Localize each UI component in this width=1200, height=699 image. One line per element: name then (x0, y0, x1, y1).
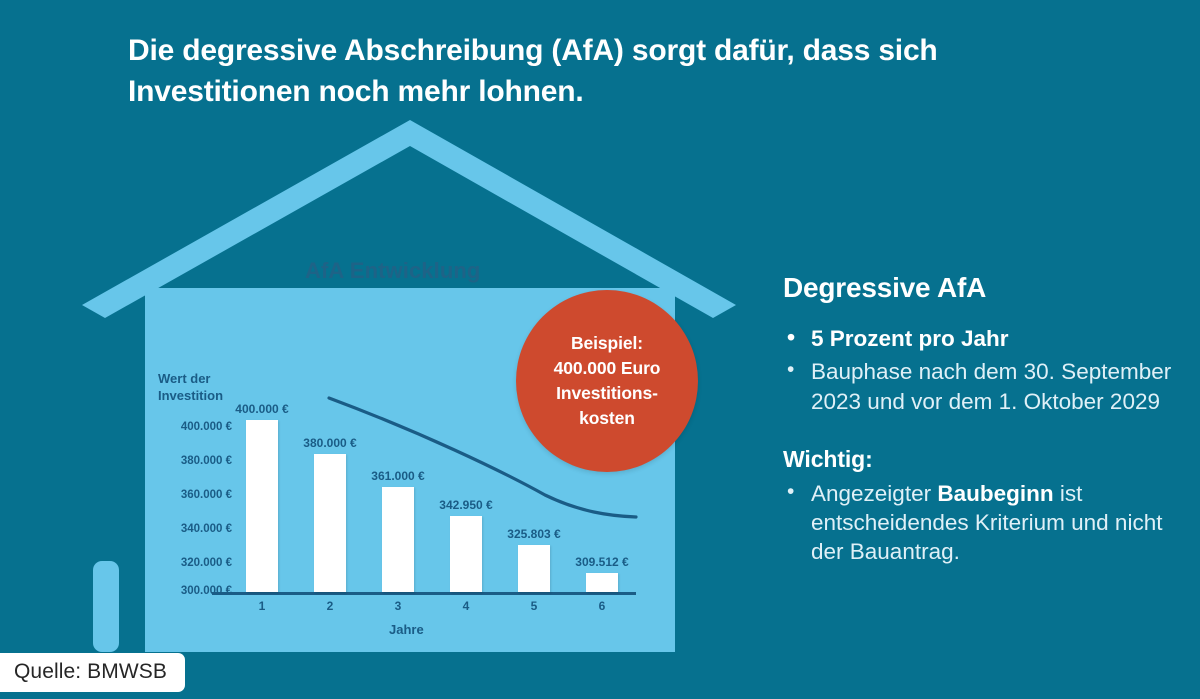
source-label: Quelle: BMWSB (0, 653, 185, 692)
list-item: Bauphase nach dem 30. September 2023 und… (783, 357, 1173, 416)
panel-heading: Degressive AfA (783, 272, 1173, 304)
callout-line-2: 400.000 Euro (554, 358, 661, 378)
chart-baseline (212, 592, 636, 595)
bar-value-label: 325.803 € (474, 527, 594, 541)
x-tick-label: 3 (383, 599, 413, 613)
x-axis-label: Jahre (0, 622, 1200, 637)
example-callout-badge: Beispiel: 400.000 Euro Investitions- kos… (516, 290, 698, 472)
bar-value-label: 342.950 € (406, 498, 526, 512)
x-tick-label: 5 (519, 599, 549, 613)
list-item: 5 Prozent pro Jahr (783, 324, 1173, 353)
bar-value-label: 361.000 € (338, 469, 458, 483)
callout-line-3: Investitions- (556, 383, 658, 403)
example-callout-text: Beispiel: 400.000 Euro Investitions- kos… (554, 331, 661, 430)
x-tick-label: 1 (247, 599, 277, 613)
list-item: Angezeigter Baubeginn ist entscheidendes… (783, 479, 1173, 567)
callout-line-4: kosten (579, 408, 635, 428)
x-tick-label: 2 (315, 599, 345, 613)
panel-bullet-list: 5 Prozent pro Jahr Bauphase nach dem 30.… (783, 324, 1173, 416)
infographic-canvas: Die degressive Abschreibung (AfA) sorgt … (0, 0, 1200, 699)
callout-line-1: Beispiel: (571, 333, 643, 353)
x-tick-label: 6 (587, 599, 617, 613)
bar-value-label: 380.000 € (270, 436, 390, 450)
important-bullet-list: Angezeigter Baubeginn ist entscheidendes… (783, 479, 1173, 567)
x-tick-label: 4 (451, 599, 481, 613)
important-heading: Wichtig: (783, 446, 1173, 473)
info-panel: Degressive AfA 5 Prozent pro Jahr Baupha… (783, 272, 1173, 571)
bar-value-label: 400.000 € (202, 402, 322, 416)
bar (586, 573, 618, 592)
bar-value-label: 309.512 € (542, 555, 662, 569)
